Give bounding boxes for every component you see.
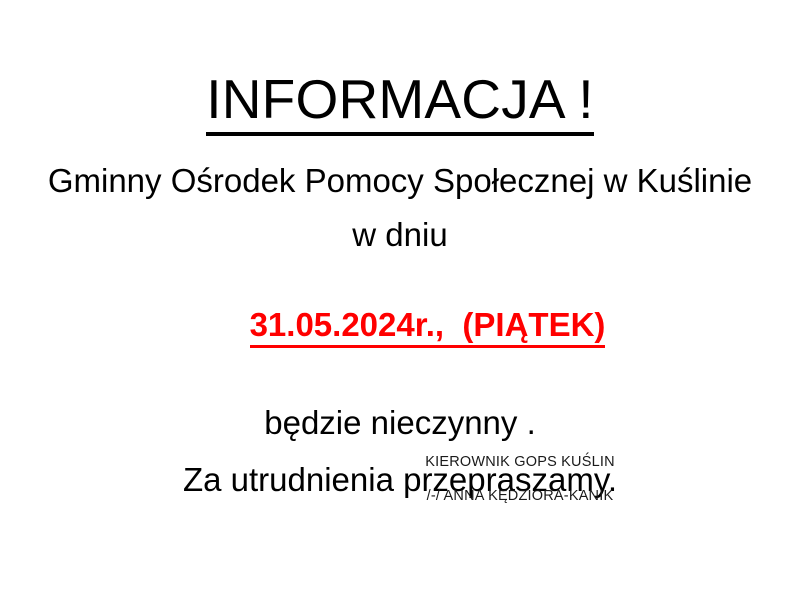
notice-closed-line: będzie nieczynny . <box>0 406 800 439</box>
notice-content: INFORMACJA ! Gminny Ośrodek Pomocy Społe… <box>0 0 800 496</box>
notice-organization-line: Gminny Ośrodek Pomocy Społecznej w Kuśli… <box>0 164 800 197</box>
page-title-text: INFORMACJA ! <box>206 72 593 136</box>
signature-role: KIEROWNIK GOPS KUŚLIN <box>310 455 730 470</box>
notice-slide: INFORMACJA ! Gminny Ośrodek Pomocy Społe… <box>0 0 800 600</box>
notice-date-text: 31.05.2024r., (PIĄTEK) <box>250 308 606 348</box>
page-title: INFORMACJA ! <box>0 0 800 136</box>
notice-date-line: 31.05.2024r., (PIĄTEK) <box>0 275 800 381</box>
signature-name: /-/ ANNA KĘDZIORA-KANIK <box>310 489 730 504</box>
notice-date-prefix-line: w dniu <box>0 218 800 251</box>
signature-block: KIEROWNIK GOPS KUŚLIN /-/ ANNA KĘDZIORA-… <box>310 455 730 503</box>
